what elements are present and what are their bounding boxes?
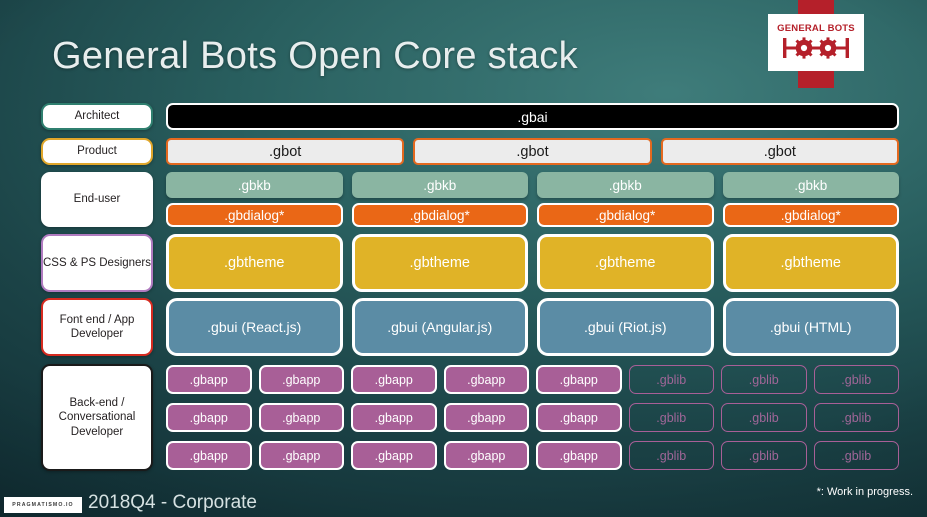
stack-box-gbkb-4[interactable]: .gbkb [723,172,900,198]
stack-box-gbapp-r2-c2-label: .gbapp [282,411,320,425]
stack-box-gbui-4[interactable]: .gbui (HTML) [723,298,900,356]
stack-box-gbapp-r1-c1[interactable]: .gbapp [166,365,252,394]
stack-box-gbapp-r1-c5-label: .gbapp [560,373,598,387]
stack-box-gbapp-r1-c2-label: .gbapp [282,373,320,387]
stack-box-gbapp-r2-c2[interactable]: .gbapp [259,403,345,432]
stack-box-gbapp-r1-c4[interactable]: .gbapp [444,365,530,394]
stack-box-gbapp-r1-c2[interactable]: .gbapp [259,365,345,394]
stack-box-gbapp-r3-c2[interactable]: .gbapp [259,441,345,470]
stack-box-gbtheme-3-label: .gbtheme [595,255,655,271]
stack-box-gbot-3[interactable]: .gbot [661,138,899,165]
stack-box-gbapp-r2-c5-label: .gbapp [560,411,598,425]
stack-box-gblib-r3-c2-label: .gblib [749,449,779,463]
stack-box-gbkb-2-label: .gbkb [423,178,456,193]
stack-box-gbot-2[interactable]: .gbot [413,138,651,165]
stack-box-gbot-3-label: .gbot [764,144,796,160]
stack-box-gbapp-r2-c3[interactable]: .gbapp [351,403,437,432]
stack-box-gbdialog-4[interactable]: .gbdialog* [723,203,900,227]
stack-box-gblib-r1-c1[interactable]: .gblib [629,365,715,394]
stack-box-gbapp-r2-c1-label: .gbapp [190,411,228,425]
pragmatismo-wordmark: PRAGMATISMO.IO [12,502,73,508]
pragmatismo-logo: PRAGMATISMO.IO [4,497,82,513]
stack-box-gbapp-r1-c3-label: .gbapp [375,373,413,387]
stack-box-gbapp-r3-c3-label: .gbapp [375,449,413,463]
stack-box-gblib-r1-c1-label: .gblib [656,373,686,387]
stack-box-gblib-r1-c3[interactable]: .gblib [814,365,900,394]
stack-box-gblib-r2-c3-label: .gblib [841,411,871,425]
stack-box-gbkb-4-label: .gbkb [794,178,827,193]
stack-box-gbdialog-1[interactable]: .gbdialog* [166,203,343,227]
stack-box-gbui-2[interactable]: .gbui (Angular.js) [352,298,529,356]
stack-box-gblib-r2-c1-label: .gblib [656,411,686,425]
work-in-progress-note: *: Work in progress. [817,486,913,498]
stack-box-gblib-r2-c1[interactable]: .gblib [629,403,715,432]
stack-box-gbui-2-label: .gbui (Angular.js) [387,319,492,335]
stack-box-gbot-2-label: .gbot [516,144,548,160]
stack-box-gbapp-r2-c5[interactable]: .gbapp [536,403,622,432]
stack-box-gbdialog-3[interactable]: .gbdialog* [537,203,714,227]
stack-box-gbapp-r1-c5[interactable]: .gbapp [536,365,622,394]
stack-box-gbkb-3[interactable]: .gbkb [537,172,714,198]
stack-box-gbapp-r2-c4-label: .gbapp [467,411,505,425]
stack-box-gbapp-r3-c1[interactable]: .gbapp [166,441,252,470]
stack-box-gbapp-r1-c1-label: .gbapp [190,373,228,387]
stack-box-gbdialog-1-label: .gbdialog* [224,208,284,223]
stack-box-gbdialog-2-label: .gbdialog* [410,208,470,223]
stack-box-gblib-r2-c2[interactable]: .gblib [721,403,807,432]
stack-box-gbtheme-1[interactable]: .gbtheme [166,234,343,292]
stack-box-gbapp-r3-c2-label: .gbapp [282,449,320,463]
stack-box-gbtheme-2-label: .gbtheme [410,255,470,271]
stack-box-gbdialog-4-label: .gbdialog* [781,208,841,223]
stack-box-gblib-r3-c2[interactable]: .gblib [721,441,807,470]
stack-diagram: .gbai.gbot.gbot.gbot.gbkb.gbkb.gbkb.gbkb… [0,0,927,517]
slide-canvas: General Bots Open Core stack GENERAL BOT… [0,0,927,517]
stack-box-gbapp-r2-c1[interactable]: .gbapp [166,403,252,432]
stack-box-gbot-1-label: .gbot [269,144,301,160]
stack-box-gbdialog-3-label: .gbdialog* [595,208,655,223]
stack-box-gbai-label: .gbai [517,109,547,125]
stack-box-gblib-r1-c2-label: .gblib [749,373,779,387]
stack-box-gbapp-r3-c3[interactable]: .gbapp [351,441,437,470]
stack-box-gbdialog-2[interactable]: .gbdialog* [352,203,529,227]
stack-box-gbkb-3-label: .gbkb [609,178,642,193]
stack-box-gbapp-r1-c4-label: .gbapp [467,373,505,387]
stack-box-gbapp-r3-c4-label: .gbapp [467,449,505,463]
stack-box-gblib-r1-c3-label: .gblib [841,373,871,387]
stack-box-gblib-r3-c1-label: .gblib [656,449,686,463]
stack-box-gbui-3[interactable]: .gbui (Riot.js) [537,298,714,356]
stack-box-gbtheme-4-label: .gbtheme [781,255,841,271]
stack-box-gbapp-r3-c1-label: .gbapp [190,449,228,463]
stack-box-gbtheme-3[interactable]: .gbtheme [537,234,714,292]
stack-box-gblib-r1-c2[interactable]: .gblib [721,365,807,394]
stack-box-gbapp-r3-c5-label: .gbapp [560,449,598,463]
stack-box-gbui-1[interactable]: .gbui (React.js) [166,298,343,356]
stack-box-gbui-1-label: .gbui (React.js) [207,319,301,335]
stack-box-gbapp-r1-c3[interactable]: .gbapp [351,365,437,394]
stack-box-gbui-4-label: .gbui (HTML) [770,319,852,335]
stack-box-gbapp-r3-c5[interactable]: .gbapp [536,441,622,470]
stack-box-gbot-1[interactable]: .gbot [166,138,404,165]
stack-box-gblib-r2-c3[interactable]: .gblib [814,403,900,432]
stack-box-gbtheme-1-label: .gbtheme [224,255,284,271]
stack-box-gblib-r2-c2-label: .gblib [749,411,779,425]
stack-box-gbkb-2[interactable]: .gbkb [352,172,529,198]
stack-box-gblib-r3-c3-label: .gblib [841,449,871,463]
stack-box-gbkb-1-label: .gbkb [238,178,271,193]
stack-box-gblib-r3-c3[interactable]: .gblib [814,441,900,470]
stack-box-gbai[interactable]: .gbai [166,103,899,130]
stack-box-gbapp-r2-c4[interactable]: .gbapp [444,403,530,432]
stack-box-gbui-3-label: .gbui (Riot.js) [584,319,666,335]
stack-box-gbkb-1[interactable]: .gbkb [166,172,343,198]
stack-box-gbapp-r2-c3-label: .gbapp [375,411,413,425]
stack-box-gblib-r3-c1[interactable]: .gblib [629,441,715,470]
footer-caption: 2018Q4 - Corporate [88,492,257,514]
stack-box-gbtheme-2[interactable]: .gbtheme [352,234,529,292]
stack-box-gbapp-r3-c4[interactable]: .gbapp [444,441,530,470]
stack-box-gbtheme-4[interactable]: .gbtheme [723,234,900,292]
